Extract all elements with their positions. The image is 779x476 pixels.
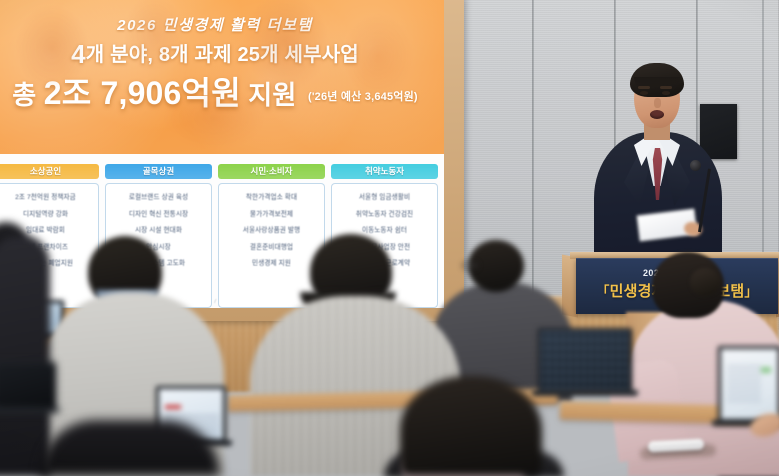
slide-hero-banner: 2026 민생경제 활력 더보탬 4개 분야, 8개 과제 25개 세부사업 총… bbox=[0, 0, 444, 154]
podium-quote-open: 「 bbox=[596, 284, 609, 299]
microphone-head bbox=[690, 160, 701, 171]
slide-column-header: 시민·소비자 bbox=[218, 164, 325, 179]
audience-member-hair bbox=[400, 376, 542, 476]
eyeglasses bbox=[462, 262, 478, 269]
slide-column-item: 서울사랑상품권 발행 bbox=[221, 224, 322, 234]
slide-column-header: 취약노동자 bbox=[331, 164, 438, 179]
slide-column-item: 디자인 혁신 전통시장 bbox=[108, 208, 209, 218]
laptop-screen bbox=[718, 346, 779, 422]
slide-column-3: 시민·소비자착한가격업소 확대물가가격보전제서울사랑상품권 발행결혼준비대행업민… bbox=[218, 164, 325, 308]
slide-column-item: 이동노동자 쉼터 bbox=[334, 224, 435, 234]
laptop-screen bbox=[538, 328, 632, 392]
laptop-base bbox=[0, 408, 60, 413]
slide-subtitle-prefix: 4 bbox=[71, 39, 86, 69]
slide-column-item: 물가가격보전제 bbox=[221, 208, 322, 218]
slide-subtitle-text: 개 분야, 8개 과제 25개 세부사업 bbox=[86, 44, 359, 66]
slide-column-item: 디지털역량 강화 bbox=[0, 208, 96, 218]
press-briefing-photo: 2026 민생경제 활력 더보탬 4개 분야, 8개 과제 25개 세부사업 총… bbox=[0, 0, 779, 476]
slide-amount-prefix: 총 bbox=[12, 80, 36, 110]
slide-amount-suffix: 지원 bbox=[248, 80, 296, 110]
slide-column-header: 골목상권 bbox=[105, 164, 212, 179]
projection-screen-frame: 2026 민생경제 활력 더보탬 4개 분야, 8개 과제 25개 세부사업 총… bbox=[0, 0, 464, 321]
slide-amount-value: 2조 7,906억원 bbox=[44, 75, 241, 111]
speaker-eye-left bbox=[640, 91, 648, 95]
speaker-eye-right bbox=[662, 91, 670, 95]
laptop-screen bbox=[0, 362, 56, 410]
speaker-mouth bbox=[650, 110, 664, 119]
speaker-hair bbox=[630, 63, 684, 97]
slide-column-item: 서울형 임금생활비 bbox=[334, 191, 435, 201]
slide-column-item: 민생경제 지원 bbox=[221, 257, 322, 267]
slide-budget-note: ('26년 예산 3,645억원) bbox=[308, 91, 418, 103]
audience-member-body bbox=[0, 236, 50, 476]
slide-script-title: 2026 민생경제 활력 더보탬 bbox=[0, 14, 444, 35]
wall-seam bbox=[532, 0, 534, 330]
speaker-eyebrow-left bbox=[638, 86, 650, 89]
slide-column-item: 로컬브랜드 상권 육성 bbox=[108, 191, 209, 201]
speaker-nose bbox=[654, 98, 661, 108]
slide-column-body: 착한가격업소 확대물가가격보전제서울사랑상품권 발행결혼준비대행업민생경제 지원 bbox=[218, 183, 325, 308]
slide-column-item: 2조 7천억원 정책자금 bbox=[0, 191, 96, 201]
hair-bun bbox=[690, 268, 720, 296]
slide-column-item: 취약노동자 건강검진 bbox=[334, 208, 435, 218]
audience-member-silhouette bbox=[40, 420, 220, 476]
slide-amount-line: 총 2조 7,906억원 지원 ('26년 예산 3,645억원) bbox=[0, 68, 444, 114]
podium-quote-close: 」 bbox=[744, 284, 757, 299]
laptop-base bbox=[532, 390, 638, 396]
slide-column-header: 소상공인 bbox=[0, 164, 99, 179]
slide-column-item: 결혼준비대행업 bbox=[221, 241, 322, 251]
slide-column-item: 착한가격업소 확대 bbox=[221, 191, 322, 201]
slide-subtitle: 4개 분야, 8개 과제 25개 세부사업 bbox=[0, 38, 444, 70]
speaker-eyebrow-right bbox=[660, 86, 672, 89]
slide-column-item: 시장 시설 현대화 bbox=[108, 224, 209, 234]
